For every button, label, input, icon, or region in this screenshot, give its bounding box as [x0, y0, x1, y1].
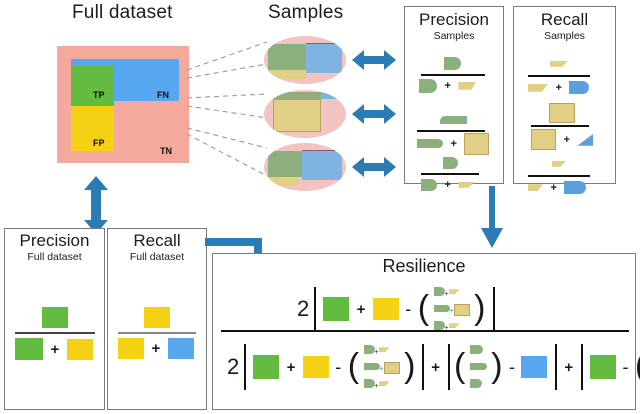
frac2-den-fp	[464, 133, 489, 155]
panel-precision-full: Precision Full dataset +	[4, 228, 105, 410]
frac1-plus: +	[441, 80, 453, 92]
frac2-den-tp	[417, 139, 443, 148]
frac1-bar	[421, 74, 485, 76]
resilience-den-paren2-open: (	[454, 354, 465, 380]
recall-sample-fraction-3: +	[528, 155, 590, 197]
precision-full-subtitle: Full dataset	[5, 251, 104, 263]
rfrac3-den-fp	[528, 184, 543, 191]
rfrac1-den-fp	[528, 84, 548, 92]
sample1-fp-region	[268, 70, 306, 79]
rfrac2-num-fp	[549, 103, 575, 123]
rd2-s3	[470, 379, 482, 388]
recall-full-numerator-fp	[144, 307, 170, 328]
sample3-tp-region	[268, 151, 302, 177]
frac3-num-tp	[443, 157, 458, 169]
rd-s2-fp	[384, 362, 400, 374]
frac3-bar	[421, 173, 479, 175]
resilience-den-plus3: +	[561, 359, 576, 376]
recall-samples-subtitle: Samples	[514, 30, 615, 42]
rfrac1-plus: +	[552, 82, 564, 94]
resilience-den-recall-full	[303, 356, 329, 378]
sample3-fp-region	[268, 177, 298, 186]
precision-full-title: Precision	[5, 231, 104, 251]
recall-samples-title: Recall	[514, 10, 615, 30]
recall-sample-fraction-1: +	[528, 55, 590, 97]
resilience-num-abs-open	[314, 287, 316, 331]
page-title-samples: Samples	[268, 2, 343, 24]
rd-s3-tp	[364, 379, 375, 388]
panel-recall-samples: Recall Samples + + +	[513, 6, 616, 184]
frac3-den-fp	[458, 182, 474, 188]
rn-s3-fp	[449, 323, 460, 328]
precision-full-den-fp	[67, 339, 93, 360]
rn-s2-fp	[454, 304, 470, 316]
full-dataset-confusion-matrix: TP FN FP TN	[57, 46, 189, 163]
frac1-den-tp	[419, 79, 437, 93]
precision-full-numerator-tp	[42, 307, 68, 328]
sample-ellipse-2	[264, 90, 346, 138]
recall-full-subtitle: Full dataset	[108, 251, 206, 263]
sample1-fn-region	[306, 43, 342, 73]
rd-s1-plus: +	[375, 349, 379, 356]
rfrac1-num-fp	[550, 61, 568, 67]
panel-recall-full: Recall Full dataset +	[107, 228, 207, 410]
resilience-den-precision-samples-stack-2	[470, 342, 487, 392]
precision-sample-fraction-3: +	[421, 154, 479, 194]
precision-full-den-tp	[15, 338, 43, 360]
frac1-num-tp	[444, 57, 461, 70]
sample1-tp-region	[268, 44, 306, 70]
resilience-den-recall-full-2	[521, 356, 547, 378]
fp-label: FP	[93, 138, 105, 148]
rfrac2-bar	[531, 125, 589, 127]
frac1-den-fp	[458, 82, 476, 90]
sample3-fn-region	[302, 150, 342, 180]
recall-full-fraction: +	[118, 307, 196, 359]
rd2-s1	[470, 345, 483, 354]
recall-sample-fraction-2: +	[531, 103, 593, 150]
rd-s2-tp	[364, 363, 380, 370]
rd-s1-tp	[364, 345, 375, 354]
precision-full-plus: +	[47, 341, 62, 358]
resilience-denominator: 2 + - ( + + + ) + ( ) -	[227, 342, 640, 392]
resilience-num-recall-full	[373, 298, 399, 320]
resilience-den-plus2: +	[428, 359, 443, 376]
resilience-den-paren1-open: (	[348, 354, 359, 380]
resilience-den-minus1: -	[333, 357, 343, 378]
recall-full-den-fn	[168, 338, 194, 359]
resilience-num-coefficient: 2	[297, 296, 309, 322]
sample-connector-lines	[185, 30, 275, 200]
rfrac1-bar	[528, 75, 590, 77]
rfrac1-den-fn	[569, 81, 589, 94]
resilience-num-paren-close: )	[474, 296, 485, 322]
resilience-den-paren3-open: (	[635, 354, 640, 380]
tp-label: TP	[93, 90, 105, 100]
precision-full-fraction: +	[15, 307, 95, 360]
rn-s1-plus: +	[445, 291, 449, 298]
precision-samples-subtitle: Samples	[405, 30, 503, 42]
rn-s3-tp	[434, 321, 445, 330]
resilience-den-paren2-close: )	[491, 354, 502, 380]
rfrac2-den-fp	[531, 129, 556, 150]
resilience-title: Resilience	[213, 256, 635, 277]
rfrac3-plus: +	[547, 182, 559, 194]
recall-full-plus: +	[148, 340, 163, 357]
double-arrow-sample-2	[352, 102, 396, 126]
resilience-num-plus: +	[354, 301, 369, 318]
frac2-plus: +	[447, 138, 459, 150]
recall-full-title: Recall	[108, 231, 206, 251]
panel-resilience: Resilience 2 + - ( + + + ) 2 + -	[212, 253, 636, 410]
page-title-full-dataset: Full dataset	[72, 2, 173, 24]
rfrac2-plus: +	[560, 134, 572, 146]
sample-ellipse-3	[264, 143, 346, 191]
resilience-den-abs2-close	[555, 344, 557, 390]
tn-label: TN	[160, 146, 172, 156]
resilience-den-abs2-open	[448, 344, 450, 390]
double-arrow-sample-3	[352, 155, 396, 179]
resilience-num-precision-full	[323, 297, 349, 321]
sample-ellipse-1	[264, 36, 346, 84]
resilience-den-paren1-close: )	[404, 354, 415, 380]
resilience-den-precision-full	[253, 355, 279, 379]
rfrac3-den-fn	[564, 181, 586, 194]
resilience-den-abs1-close	[422, 344, 424, 390]
resilience-den-precision-samples-stack: + + +	[364, 342, 400, 392]
resilience-den-minus3: -	[620, 357, 630, 378]
resilience-numerator: 2 + - ( + + + )	[297, 284, 495, 334]
resilience-den-coefficient: 2	[227, 354, 239, 380]
arrow-full-dataset-to-metrics	[82, 176, 110, 234]
precision-full-bar	[15, 332, 95, 334]
sample2-fn-region	[321, 92, 338, 99]
resilience-den-abs1-open	[244, 344, 246, 390]
rd-s3-fp	[379, 381, 390, 386]
frac2-bar	[417, 130, 485, 132]
fn-label: FN	[157, 90, 169, 100]
resilience-den-plus1: +	[284, 359, 299, 376]
precision-sample-fraction-1: +	[419, 55, 485, 95]
rfrac3-num-fp	[552, 161, 566, 167]
resilience-num-minus: -	[403, 299, 413, 320]
recall-full-bar	[118, 332, 196, 334]
resilience-den-precision-full-2	[590, 355, 616, 379]
recall-full-den-fp	[118, 338, 144, 359]
resilience-den-minus2: -	[507, 357, 517, 378]
rn-s3-plus: +	[445, 325, 449, 332]
resilience-den-abs3-open	[581, 344, 583, 390]
arrow-samples-to-resilience	[480, 186, 504, 248]
panel-precision-samples: Precision Samples + + +	[404, 6, 504, 184]
sample2-fp-region	[273, 99, 321, 132]
sample2-tp-region	[273, 92, 321, 99]
rn-s2-tp	[434, 305, 450, 312]
rn-s1-tp	[434, 287, 445, 296]
precision-samples-title: Precision	[405, 10, 503, 30]
frac3-plus: +	[441, 179, 453, 191]
double-arrow-sample-1	[352, 48, 396, 72]
precision-sample-fraction-2: +	[417, 111, 489, 155]
rfrac2-den-fn	[577, 134, 593, 146]
rfrac3-bar	[528, 175, 590, 177]
rd2-s2	[470, 363, 487, 370]
resilience-num-precision-samples-stack: + + +	[434, 284, 470, 334]
resilience-num-paren-open: (	[418, 296, 429, 322]
rd-s1-fp	[379, 347, 390, 352]
frac2-num-tp	[440, 116, 467, 124]
rn-s1-fp	[449, 289, 460, 294]
rd-s3-plus: +	[375, 383, 379, 390]
resilience-num-abs-close	[493, 287, 495, 331]
frac3-den-tp	[421, 179, 437, 191]
